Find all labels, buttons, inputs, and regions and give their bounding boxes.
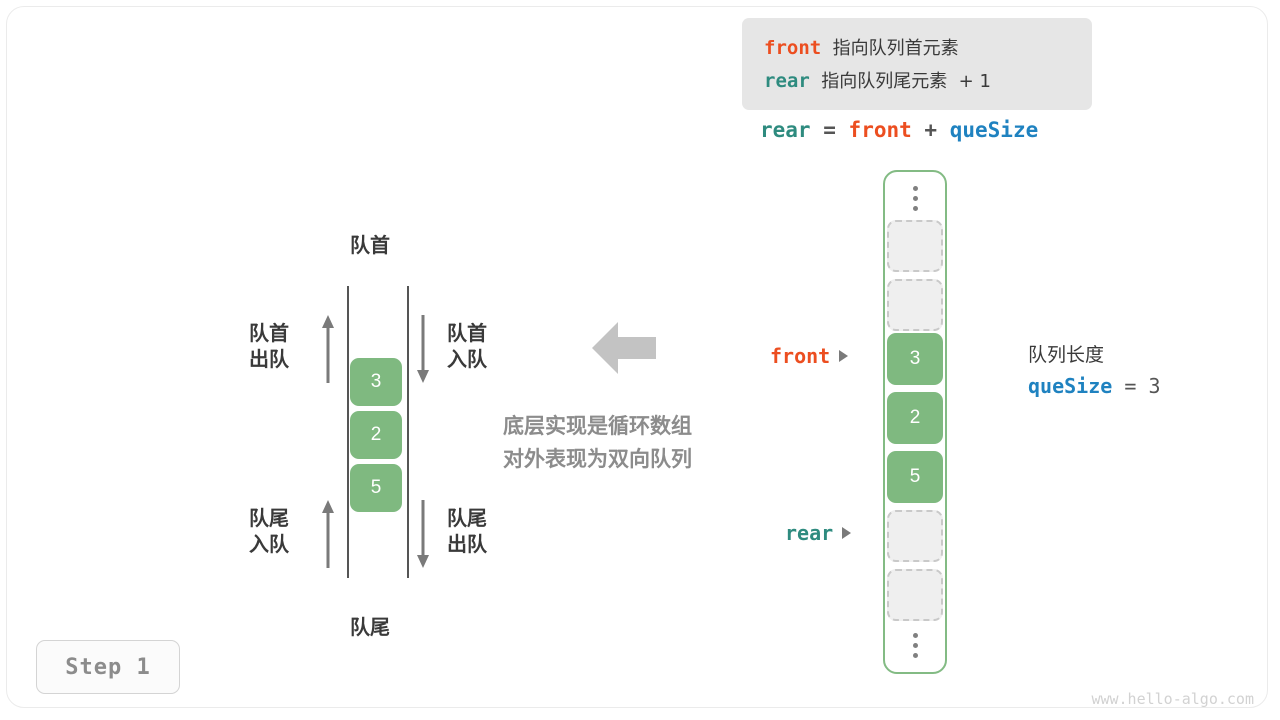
implementation-arrow-icon xyxy=(592,320,656,381)
array-cell-2: 3 xyxy=(887,333,943,385)
front-dequeue-arrow-icon xyxy=(320,315,336,383)
deque-cell-1-value: 2 xyxy=(371,424,382,446)
array-cell-1 xyxy=(887,279,943,331)
formula-quesize-term: queSize xyxy=(950,118,1039,142)
deque-cell-0: 3 xyxy=(350,358,402,406)
deque-rail-left xyxy=(347,286,349,578)
label-rear-enqueue-line2: 入队 xyxy=(249,531,289,557)
deque-header-front: 队首 xyxy=(350,229,390,258)
circular-array-container: 3 2 5 xyxy=(883,170,947,674)
array-cell-5 xyxy=(887,510,943,562)
watermark: www.hello-algo.com xyxy=(1091,690,1254,708)
label-front-dequeue-line2: 出队 xyxy=(249,346,289,372)
label-front-enqueue-line1: 队首 xyxy=(447,320,487,346)
label-front-enqueue: 队首 入队 xyxy=(447,320,487,372)
deque-cell-1: 2 xyxy=(350,411,402,459)
rear-pointer-arrow-icon xyxy=(842,527,851,539)
front-enqueue-arrow-icon xyxy=(415,315,431,383)
array-cell-4-value: 5 xyxy=(910,466,921,488)
queue-size-note: 队列长度 queSize = 3 xyxy=(1028,340,1160,402)
array-cell-3: 2 xyxy=(887,392,943,444)
array-cell-6 xyxy=(887,569,943,621)
front-pointer-text: front xyxy=(770,344,830,368)
label-rear-dequeue-line2: 出队 xyxy=(447,531,487,557)
deque-cell-2-value: 5 xyxy=(371,477,382,499)
legend-rear-keyword: rear xyxy=(764,70,810,92)
legend-line-front: front 指向队列首元素 xyxy=(764,32,1092,65)
quesize-var: queSize xyxy=(1028,374,1112,398)
legend-front-text: 指向队列首元素 xyxy=(833,38,959,59)
deque-cell-0-value: 3 xyxy=(371,371,382,393)
pointer-legend-box: front 指向队列首元素 rear 指向队列尾元素 + 1 xyxy=(742,18,1092,110)
queue-size-label: 队列长度 xyxy=(1028,340,1160,370)
label-front-enqueue-line2: 入队 xyxy=(447,346,487,372)
formula-equals: = xyxy=(823,118,836,142)
ellipsis-top-icon xyxy=(912,186,918,211)
quesize-value: 3 xyxy=(1148,374,1160,398)
implementation-note-line2: 对外表现为双向队列 xyxy=(503,443,692,476)
formula-lhs: rear xyxy=(760,118,811,142)
implementation-note: 底层实现是循环数组 对外表现为双向队列 xyxy=(503,410,692,476)
label-rear-enqueue-line1: 队尾 xyxy=(249,505,289,531)
label-front-dequeue: 队首 出队 xyxy=(249,320,289,372)
label-rear-dequeue: 队尾 出队 xyxy=(447,505,487,557)
quesize-equals: = xyxy=(1124,374,1136,398)
label-rear-dequeue-line1: 队尾 xyxy=(447,505,487,531)
array-cell-0 xyxy=(887,220,943,272)
deque-cell-2: 5 xyxy=(350,464,402,512)
deque-rail-right xyxy=(407,286,409,578)
front-pointer-arrow-icon xyxy=(839,350,848,362)
rear-pointer-text: rear xyxy=(785,521,833,545)
rear-formula: rear = front + queSize xyxy=(760,118,1038,142)
formula-plus: + xyxy=(924,118,937,142)
formula-front-term: front xyxy=(849,118,912,142)
label-rear-enqueue: 队尾 入队 xyxy=(249,505,289,557)
diagram-canvas: front 指向队列首元素 rear 指向队列尾元素 + 1 rear = fr… xyxy=(0,0,1280,720)
implementation-note-line1: 底层实现是循环数组 xyxy=(503,410,692,443)
array-cell-3-value: 2 xyxy=(910,407,921,429)
step-badge: Step 1 xyxy=(36,640,180,694)
queue-size-expression: queSize = 3 xyxy=(1028,370,1160,402)
legend-rear-suffix: + 1 xyxy=(959,71,991,92)
rear-pointer-label: rear xyxy=(785,521,851,545)
array-cell-2-value: 3 xyxy=(910,348,921,370)
front-pointer-label: front xyxy=(770,344,848,368)
label-front-dequeue-line1: 队首 xyxy=(249,320,289,346)
ellipsis-bottom-icon xyxy=(912,633,918,658)
legend-rear-text: 指向队列尾元素 xyxy=(821,71,947,92)
array-cell-4: 5 xyxy=(887,451,943,503)
legend-front-keyword: front xyxy=(764,37,821,59)
rear-dequeue-arrow-icon xyxy=(415,500,431,568)
legend-line-rear: rear 指向队列尾元素 + 1 xyxy=(764,65,1092,98)
rear-enqueue-arrow-icon xyxy=(320,500,336,568)
deque-header-rear: 队尾 xyxy=(350,611,390,640)
